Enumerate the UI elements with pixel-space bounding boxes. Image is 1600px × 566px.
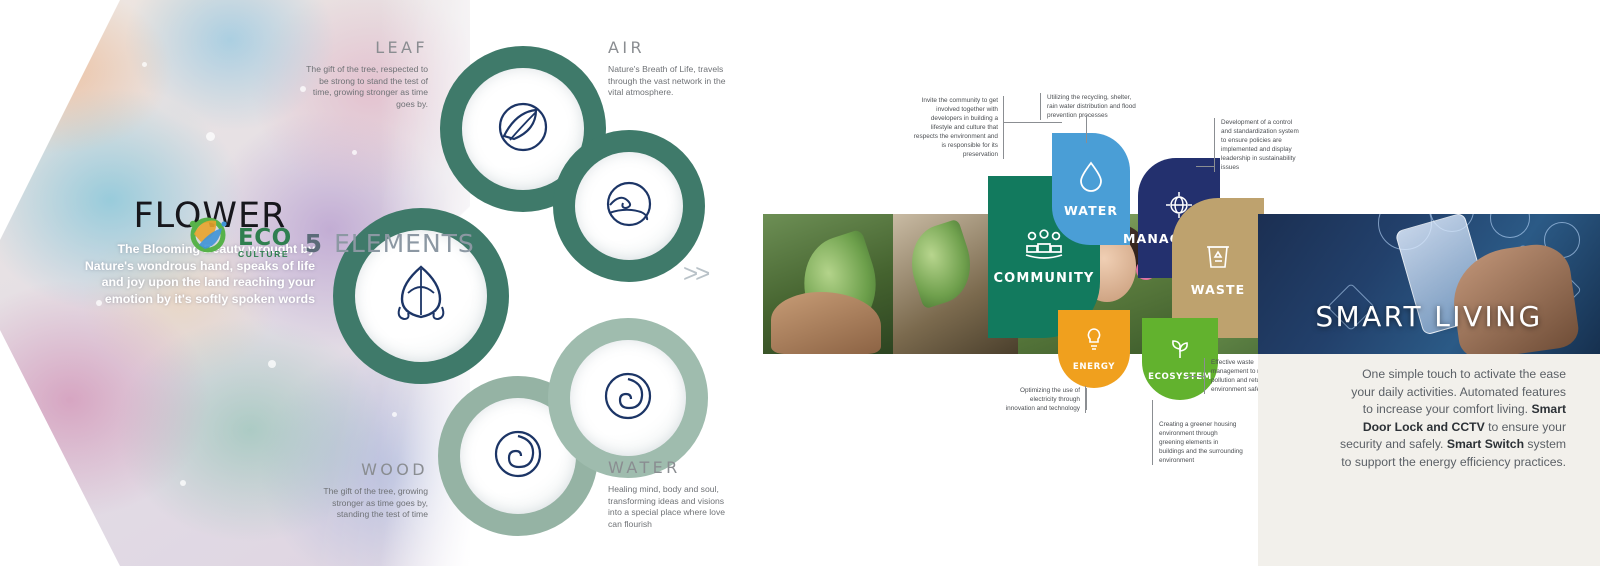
water-wave-icon [598, 366, 658, 431]
leaf-circle-icon [492, 96, 554, 163]
caption-wood: WOOD The gift of the tree, growing stron… [300, 460, 428, 521]
wood-spiral-icon [488, 424, 548, 489]
water-drop-icon [1078, 160, 1104, 197]
caption-water: WATER Healing mind, body and soul, trans… [608, 458, 738, 530]
elements-label: ELEMENTS [334, 229, 475, 258]
infographic-canvas: FLOWER The Blooming Beauty wrought by Na… [0, 0, 1600, 566]
energy-bulb-icon [1084, 327, 1104, 356]
ecosystem-sprout-icon [1169, 337, 1191, 366]
leader-line-management [1196, 166, 1214, 167]
photo-seedling-hand [763, 214, 893, 354]
caption-wood-text: The gift of the tree, growing stronger a… [300, 486, 428, 521]
element-lobe-water[interactable] [548, 318, 708, 478]
air-swirl-icon [600, 175, 658, 238]
chevron-right-icon: >> [683, 258, 707, 289]
petal-energy[interactable]: ENERGY [1058, 310, 1130, 388]
eco-culture-logo: ECO CULTURE 5 ELEMENTS [185, 212, 475, 258]
flower-bud-icon [386, 259, 456, 334]
caption-water-title: WATER [608, 458, 738, 477]
petal-waste-label: WASTE [1191, 282, 1245, 297]
smart-living-description: One simple touch to activate the ease yo… [1340, 366, 1566, 471]
caption-leaf: LEAF The gift of the tree, respected to … [300, 38, 428, 110]
five-label: 5 [305, 229, 322, 258]
callout-energy: Optimizing the use of electricity throug… [1000, 386, 1086, 413]
community-people-icon [1022, 228, 1066, 265]
eco-leaf-circle-icon [185, 212, 231, 258]
leader-line-waste [1186, 376, 1204, 377]
petal-water[interactable]: WATER [1052, 133, 1130, 245]
callout-water: Utilizing the recycling, shelter, rain w… [1040, 93, 1136, 120]
caption-wood-title: WOOD [300, 460, 428, 479]
leader-line-water [1086, 115, 1087, 143]
waste-recycle-bin-icon [1204, 239, 1232, 276]
callout-management: Development of a control and standardiza… [1214, 118, 1302, 172]
caption-air: AIR Nature's Breath of Life, travels thr… [608, 38, 738, 99]
caption-leaf-text: The gift of the tree, respected to be st… [300, 64, 428, 110]
caption-water-text: Healing mind, body and soul, transformin… [608, 484, 738, 530]
photo-smart-home-hand [1258, 214, 1600, 354]
caption-air-title: AIR [608, 38, 738, 57]
smart-bold-2: Smart Switch [1447, 437, 1524, 451]
petal-waste[interactable]: WASTE [1172, 198, 1264, 338]
petal-energy-label: ENERGY [1073, 362, 1115, 372]
culture-wordmark: CULTURE [238, 250, 292, 259]
caption-air-text: Nature's Breath of Life, travels through… [608, 64, 738, 99]
callout-ecosystem: Creating a greener housing environment t… [1152, 420, 1244, 465]
eco-wordmark: ECO [238, 227, 292, 250]
smart-living-title: SMART LIVING [1258, 300, 1600, 333]
leader-line-energy [1086, 388, 1087, 410]
callout-community: Invite the community to get involved tog… [912, 96, 1004, 159]
caption-leaf-title: LEAF [300, 38, 428, 57]
leader-line-community [1004, 122, 1062, 123]
leader-line-ecosystem [1152, 400, 1153, 456]
petal-water-label: WATER [1064, 203, 1118, 218]
petal-community-label: COMMUNITY [994, 271, 1095, 286]
